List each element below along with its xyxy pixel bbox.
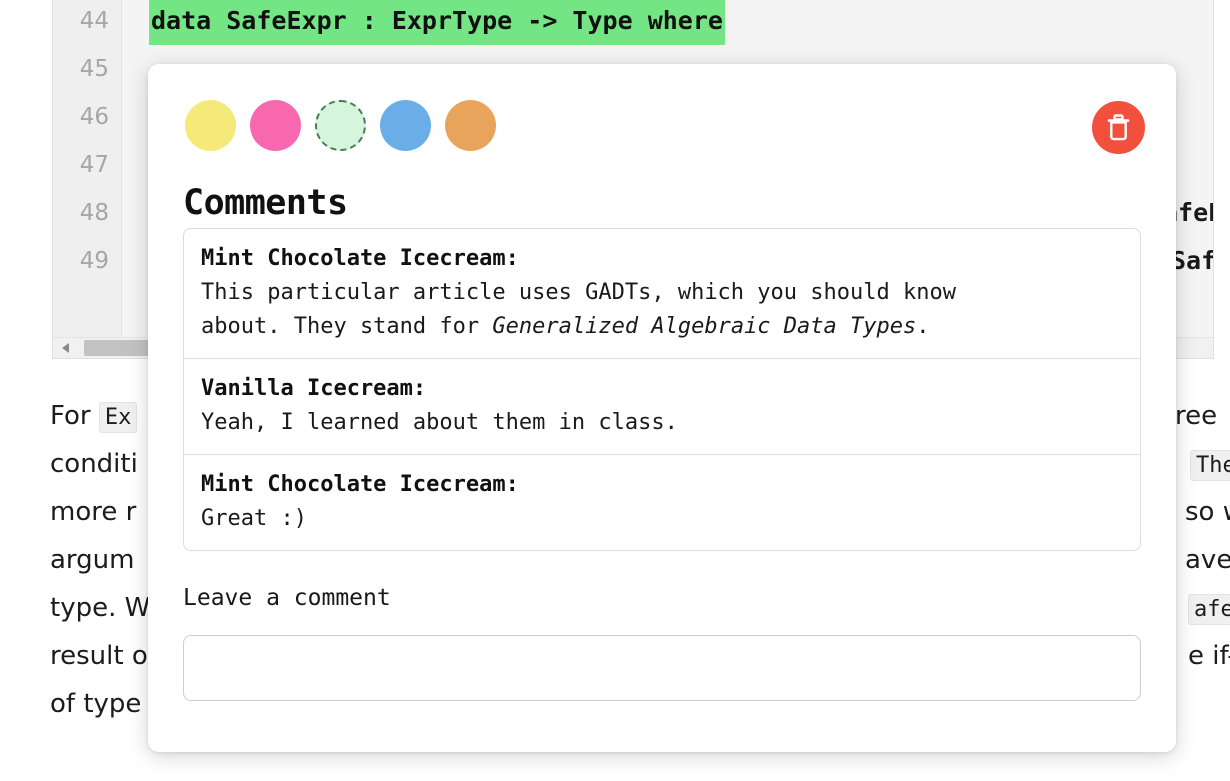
prose-line: result o [50,632,148,680]
line-number: 47 [59,141,109,189]
delete-button[interactable] [1092,101,1145,154]
comment-text-tail: . [916,314,929,339]
comment-input[interactable] [183,635,1141,701]
prose-line: For Ex [50,392,137,440]
inline-code: Ex [99,402,138,433]
line-number: 49 [59,237,109,285]
prose-line-right: ave [1185,536,1230,584]
color-swatch-yellow[interactable] [185,100,236,151]
color-swatch-pink[interactable] [250,100,301,151]
color-swatch-orange[interactable] [445,100,496,151]
trash-icon [1106,114,1131,141]
list-item: Mint Chocolate Icecream: Great :) [184,455,1140,550]
inline-code: afeE [1188,594,1230,625]
comment-text: Great :) [201,506,307,531]
list-item: Vanilla Icecream: Yeah, I learned about … [184,359,1140,455]
line-number: 44 [59,0,109,45]
prose-line-right: so w [1185,488,1230,536]
prose-line: more r [50,488,136,536]
comment-body: Great :) [201,502,1123,536]
prose-line-right: The [1190,440,1230,488]
comment-author: Mint Chocolate Icecream: [201,242,1123,276]
prose-line: of type [50,680,141,728]
line-number: 48 [59,189,109,237]
comment-emphasis: Generalized Algebraic Data Types [492,314,916,339]
leave-comment-label: Leave a comment [183,585,391,611]
line-number: 45 [59,45,109,93]
prose-text: For [50,401,91,431]
color-swatch-mint-green[interactable] [315,100,366,151]
comment-list: Mint Chocolate Icecream: This particular… [183,228,1141,551]
code-line: Safe [1171,237,1213,285]
prose-line: argum [50,536,134,584]
code-line-highlighted: data SafeExpr : ExprType -> Type where [149,0,725,45]
comment-popover: Comments Mint Chocolate Icecream: This p… [148,64,1176,752]
comment-body: Yeah, I learned about them in class. [201,406,1123,440]
code-line-number-gutter: 43 44 45 46 47 48 49 [53,0,122,358]
color-swatch-blue[interactable] [380,100,431,151]
prose-line-right: ree [1175,392,1217,440]
prose-line-right: e if- [1188,632,1230,680]
prose-line-right: afeE [1188,584,1230,632]
page-title: Comments [183,183,348,223]
list-item: Mint Chocolate Icecream: This particular… [184,229,1140,359]
modal-header [148,64,1176,164]
prose-line: type. W [50,584,150,632]
scroll-left-arrow-icon[interactable] [57,338,74,358]
line-number: 46 [59,93,109,141]
inline-code: The [1190,450,1230,481]
comment-author: Mint Chocolate Icecream: [201,468,1123,502]
prose-line: conditi [50,440,138,488]
comment-body: This particular article uses GADTs, whic… [201,276,1123,344]
comment-text: Yeah, I learned about them in class. [201,410,678,435]
color-swatch-group [185,100,496,151]
comment-author: Vanilla Icecream: [201,372,1123,406]
